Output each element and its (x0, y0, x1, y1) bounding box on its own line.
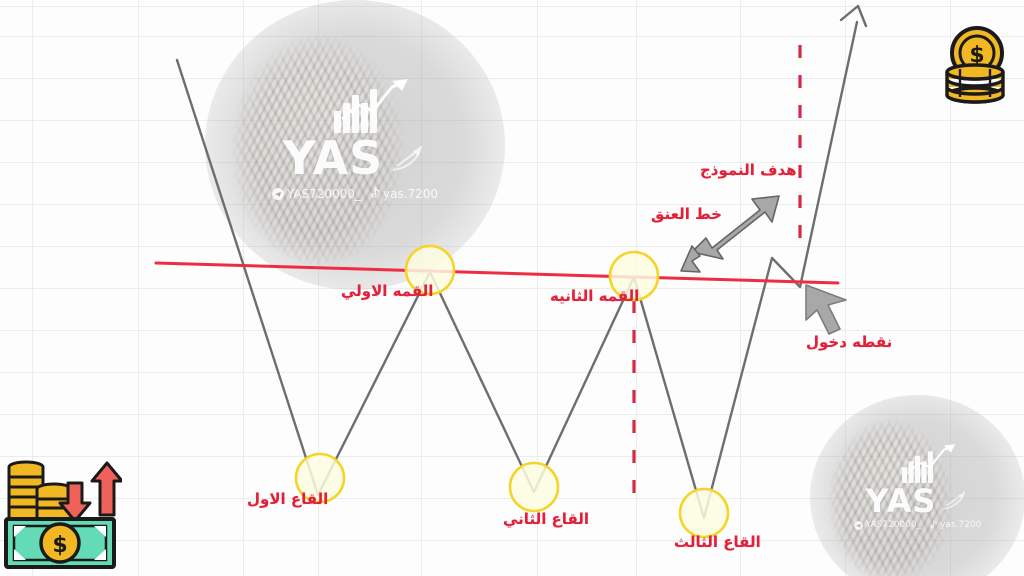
price-line (177, 22, 857, 518)
coin-stack-icon (9, 462, 71, 522)
label-neckline: خط العنق (651, 205, 722, 223)
svg-text:$: $ (52, 533, 67, 558)
chart-canvas: YAS YAS720000_ yas.7200 (0, 0, 1024, 576)
coin-stack-icon: $ (937, 25, 1013, 105)
cursor-arrow-icon (806, 285, 846, 334)
marker-trough-2 (510, 463, 558, 511)
breakout-arrow-head (841, 6, 866, 26)
marker-trough-3 (680, 489, 728, 537)
label-trough-2: القاع الثاني (503, 510, 589, 528)
price-chart-svg (0, 0, 1024, 576)
label-target: هدف النموذج (700, 161, 797, 179)
label-peak-1: القمه الاولي (341, 282, 433, 300)
label-trough-3: القاع الثالث (674, 533, 761, 551)
label-entry: نقطه دخول (806, 333, 892, 351)
label-peak-2: القمه الثانيه (550, 287, 639, 305)
neckline-resistance-line (156, 263, 838, 283)
money-cash-flow-icon: $ (4, 445, 122, 571)
arrow-up-icon (92, 463, 122, 515)
banknote-icon: $ (6, 519, 114, 567)
label-trough-1: القاع الاول (247, 490, 328, 508)
